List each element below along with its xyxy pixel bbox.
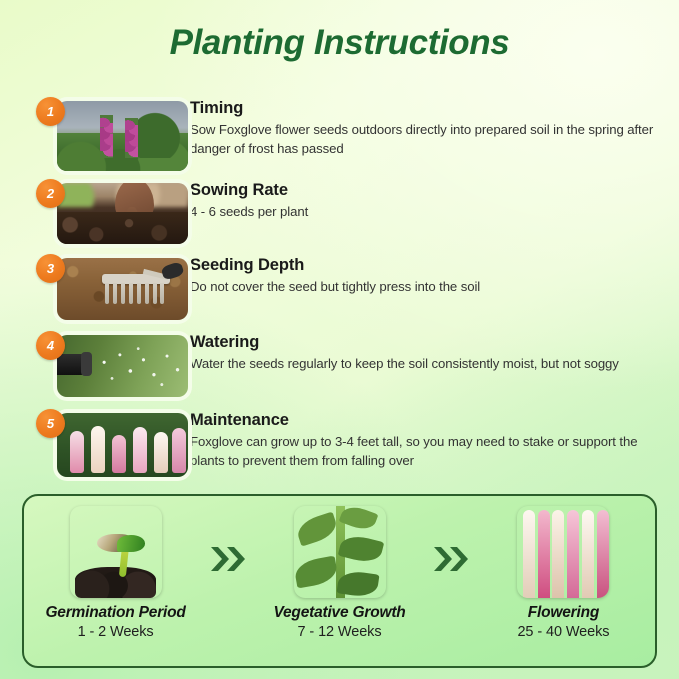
foxglove-spike <box>112 435 126 473</box>
step-thumbnail <box>57 335 188 397</box>
step-text: Seeding Depth Do not cover the seed but … <box>190 254 498 297</box>
water-spray <box>57 335 188 397</box>
step-thumbnail-wrap: 5 <box>0 409 190 477</box>
step-description: Water the seeds regularly to keep the so… <box>190 355 619 374</box>
stage-thumbnail <box>294 506 386 598</box>
timeline-stage: Vegetative Growth 7 - 12 Weeks <box>248 496 431 640</box>
foxglove-spike <box>133 427 147 473</box>
bloom-spike <box>552 510 564 598</box>
growth-timeline-panel: Germination Period 1 - 2 Weeks Vegetativ… <box>22 494 657 668</box>
step-description: Foxglove can grow up to 3-4 feet tall, s… <box>190 433 661 470</box>
timeline-stage: Germination Period 1 - 2 Weeks <box>24 496 207 640</box>
bloom-spike <box>582 510 594 598</box>
step-thumbnail-wrap: 2 <box>0 179 190 244</box>
steps-list: 1 Timing Sow Foxglove flower seeds outdo… <box>0 97 679 487</box>
step-number-badge: 3 <box>36 254 65 283</box>
step-number-badge: 5 <box>36 409 65 438</box>
step-description: 4 - 6 seeds per plant <box>190 203 308 222</box>
step-thumbnail <box>57 258 188 320</box>
step-item: 4 Watering Water the seeds regularly to … <box>0 331 679 409</box>
step-item: 5 Maintenance Foxglove can grow up to 3-… <box>0 409 679 487</box>
stage-duration: 7 - 12 Weeks <box>248 624 431 640</box>
plant-leaf <box>294 511 340 546</box>
step-thumbnail <box>57 413 188 477</box>
step-text: Timing Sow Foxglove flower seeds outdoor… <box>190 97 679 158</box>
double-chevron-right-icon <box>207 496 248 574</box>
step-thumbnail-wrap: 3 <box>0 254 190 320</box>
stage-duration: 1 - 2 Weeks <box>24 624 207 640</box>
foxglove-spike <box>154 432 168 473</box>
step-text: Sowing Rate 4 - 6 seeds per plant <box>190 179 326 222</box>
stage-label: Vegetative Growth <box>248 604 431 622</box>
stage-duration: 25 - 40 Weeks <box>472 624 655 640</box>
stage-thumbnail <box>517 506 609 598</box>
step-description: Sow Foxglove flower seeds outdoors direc… <box>190 121 661 158</box>
foxglove-spike <box>125 118 138 159</box>
hose-watering-photo <box>57 335 188 397</box>
rake-tine <box>113 283 117 304</box>
step-text: Watering Water the seeds regularly to ke… <box>190 331 637 374</box>
foxglove-spike <box>100 115 113 158</box>
step-thumbnail <box>57 101 188 171</box>
step-thumbnail <box>57 183 188 244</box>
pink-foxglove-bed-photo <box>57 413 188 477</box>
step-title: Timing <box>190 99 661 118</box>
step-number-badge: 1 <box>36 97 65 126</box>
rake-tine <box>137 283 141 304</box>
rake-tine <box>121 283 125 304</box>
soil-mound <box>75 567 156 598</box>
step-title: Watering <box>190 333 619 352</box>
plant-leaf <box>339 506 379 533</box>
step-number-badge: 2 <box>36 179 65 208</box>
step-text: Maintenance Foxglove can grow up to 3-4 … <box>190 409 679 470</box>
step-title: Sowing Rate <box>190 181 308 200</box>
rake-on-soil-photo <box>57 258 188 320</box>
soil-texture <box>57 212 188 244</box>
bloom-spike <box>523 510 535 598</box>
double-chevron-right-icon <box>431 496 472 574</box>
rake-tine <box>153 283 157 304</box>
stage-thumbnail <box>70 506 162 598</box>
step-number-badge: 4 <box>36 331 65 360</box>
step-thumbnail-wrap: 4 <box>0 331 190 397</box>
rake-tine <box>105 283 109 304</box>
foxglove-spike <box>172 428 186 473</box>
rake-tine <box>129 283 133 304</box>
sprout-leaf <box>117 535 145 552</box>
foxglove-field-photo <box>57 101 188 171</box>
step-title: Maintenance <box>190 411 661 430</box>
step-description: Do not cover the seed but tightly press … <box>190 278 480 297</box>
step-item: 1 Timing Sow Foxglove flower seeds outdo… <box>0 97 679 179</box>
foxglove-spike <box>70 431 84 473</box>
step-item: 2 Sowing Rate 4 - 6 seeds per plant <box>0 179 679 254</box>
rake-tine <box>160 283 164 304</box>
plant-leaf <box>294 556 340 589</box>
foxglove-spike <box>91 426 105 473</box>
step-thumbnail-wrap: 1 <box>0 97 190 171</box>
timeline-stage: Flowering 25 - 40 Weeks <box>472 496 655 640</box>
stage-label: Flowering <box>472 604 655 622</box>
step-item: 3 Seeding Depth <box>0 254 679 331</box>
bloom-spike <box>567 510 579 598</box>
step-title: Seeding Depth <box>190 256 480 275</box>
bloom-spike <box>538 510 550 598</box>
stage-label: Germination Period <box>24 604 207 622</box>
hand-sowing-seeds-photo <box>57 183 188 244</box>
page-title: Planting Instructions <box>0 23 679 63</box>
rake-tine <box>145 283 149 304</box>
bloom-spike <box>597 510 609 598</box>
